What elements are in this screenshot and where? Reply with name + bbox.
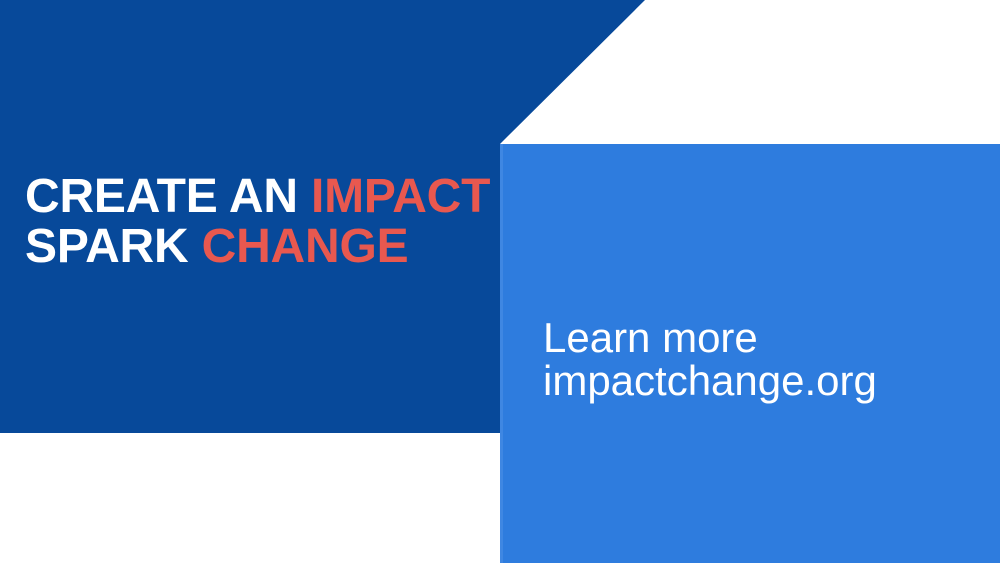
headline-line-1-primary: CREATE AN	[25, 170, 311, 223]
headline-line-2: SPARK CHANGE	[25, 222, 490, 272]
light-blue-panel-edge	[500, 144, 503, 563]
headline-line-2-accent: CHANGE	[202, 220, 409, 273]
headline-line-1: CREATE AN IMPACT	[25, 172, 490, 222]
cta-label: Learn more	[543, 316, 877, 359]
cta-website-url[interactable]: impactchange.org	[543, 359, 877, 402]
headline-line-2-primary: SPARK	[25, 220, 202, 273]
promo-slide: CREATE AN IMPACT SPARK CHANGE Learn more…	[0, 0, 1000, 563]
headline-line-1-accent: IMPACT	[311, 170, 490, 223]
headline: CREATE AN IMPACT SPARK CHANGE	[25, 172, 490, 272]
call-to-action: Learn more impactchange.org	[543, 316, 877, 402]
